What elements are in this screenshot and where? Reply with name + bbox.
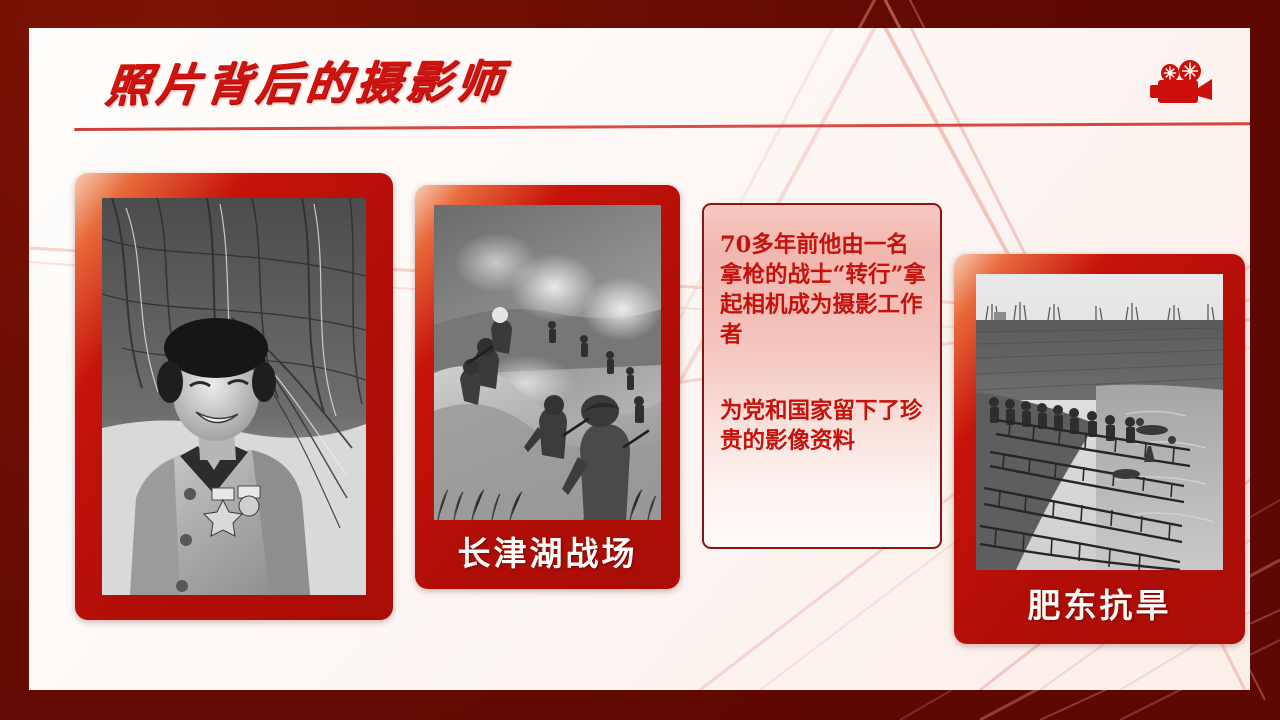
slide-root: 照片背后的摄影师	[0, 0, 1280, 720]
description-paragraph-1: 70多年前他由一名拿枪的战士“转行”拿起相机成为摄影工作者	[720, 231, 926, 351]
photo-caption-drought: 肥东抗旱	[954, 579, 1245, 627]
photo-portrait-soldier-winter	[102, 198, 366, 595]
film-camera-icon	[1150, 60, 1220, 108]
photo-changjin-lake-battlefield	[434, 205, 661, 520]
title-underline	[74, 122, 1250, 131]
photo-frame-drought[interactable]: 肥东抗旱	[954, 254, 1245, 644]
photo-feidong-drought-relief	[976, 274, 1223, 570]
description-paragraph-2: 为党和国家留下了珍贵的影像资料	[720, 397, 926, 457]
photo-frame-battlefield[interactable]: 长津湖战场	[415, 185, 680, 589]
photo-frame-portrait[interactable]	[75, 173, 393, 620]
photo-caption-battlefield: 长津湖战场	[415, 527, 680, 575]
page-title: 照片背后的摄影师	[103, 59, 509, 108]
description-card: 70多年前他由一名拿枪的战士“转行”拿起相机成为摄影工作者 为党和国家留下了珍贵…	[702, 203, 942, 549]
content-panel: 照片背后的摄影师	[29, 28, 1250, 690]
